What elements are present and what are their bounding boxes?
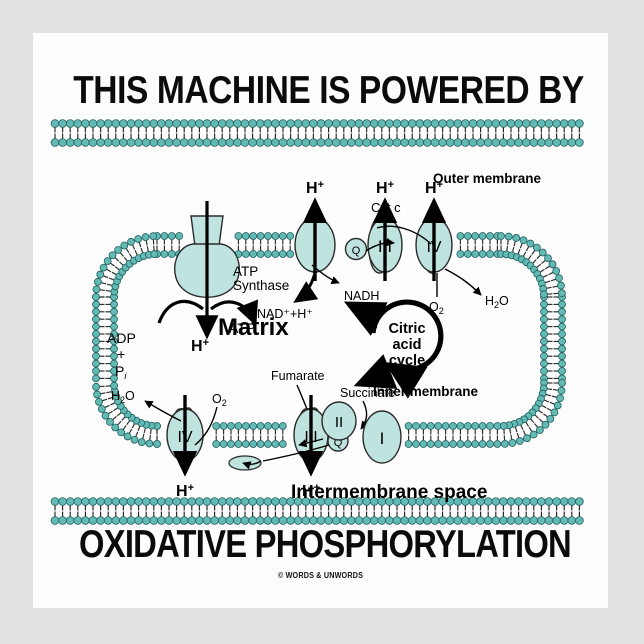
intermembrane-space-label: Intermembrane space [291,482,487,503]
plus-label: + [117,346,125,362]
atp-synthase-label-line2: Synthase [233,278,289,293]
complex-I-top: I [295,201,335,281]
decorative-bilayer-top [51,120,583,147]
citric-acid-cycle-line2: acid [392,337,421,353]
o2-label-bottom: O2 [212,392,227,408]
complex-II-bottom: II [322,402,356,440]
proton-label-synthase: H+ [191,337,209,355]
complex-I-bottom: I [363,411,401,463]
outer-membrane-label: Outer membrane [433,171,542,186]
h2o-label-bottom: H2O [111,389,135,405]
citric-acid-cycle-line3: cycle [389,353,425,369]
proton-label-complex-III-top: H+ [376,179,394,197]
complex-IV-top: IV [416,201,452,281]
inner-membrane-label: Inner membrane [373,384,479,399]
nadh-label: NADH [344,289,379,303]
cyt-c-label: Cyt c [371,200,401,215]
complex-I-bottom-label: I [380,429,385,448]
h2o-label-top: H2O [485,294,509,310]
nad-plus-h-label: NAD⁺+H⁺ [257,307,313,321]
carrier-Q-top: Q [346,239,367,260]
adp-label: ADP [107,330,136,346]
atp-synthase-label-line1: ATP [233,264,258,279]
citric-acid-cycle-line1: Citric [388,321,425,337]
fumarate-label: Fumarate [271,369,325,383]
complex-II-bottom-label: II [335,414,343,431]
carrier-Q-top-label: Q [352,245,361,257]
citric-acid-cycle: Citric acid cycle [349,302,441,384]
complex-III-bottom: III [294,395,328,473]
oxidative-phosphorylation-diagram: ATP Synthase ADP + Pi ATP H+ Mat [33,33,608,608]
proton-label-complex-I-top: H+ [306,179,324,197]
complex-IV-bottom: IV [167,395,203,473]
poster: THIS MACHINE IS POWERED BY OXIDATIVE PHO… [33,33,608,608]
